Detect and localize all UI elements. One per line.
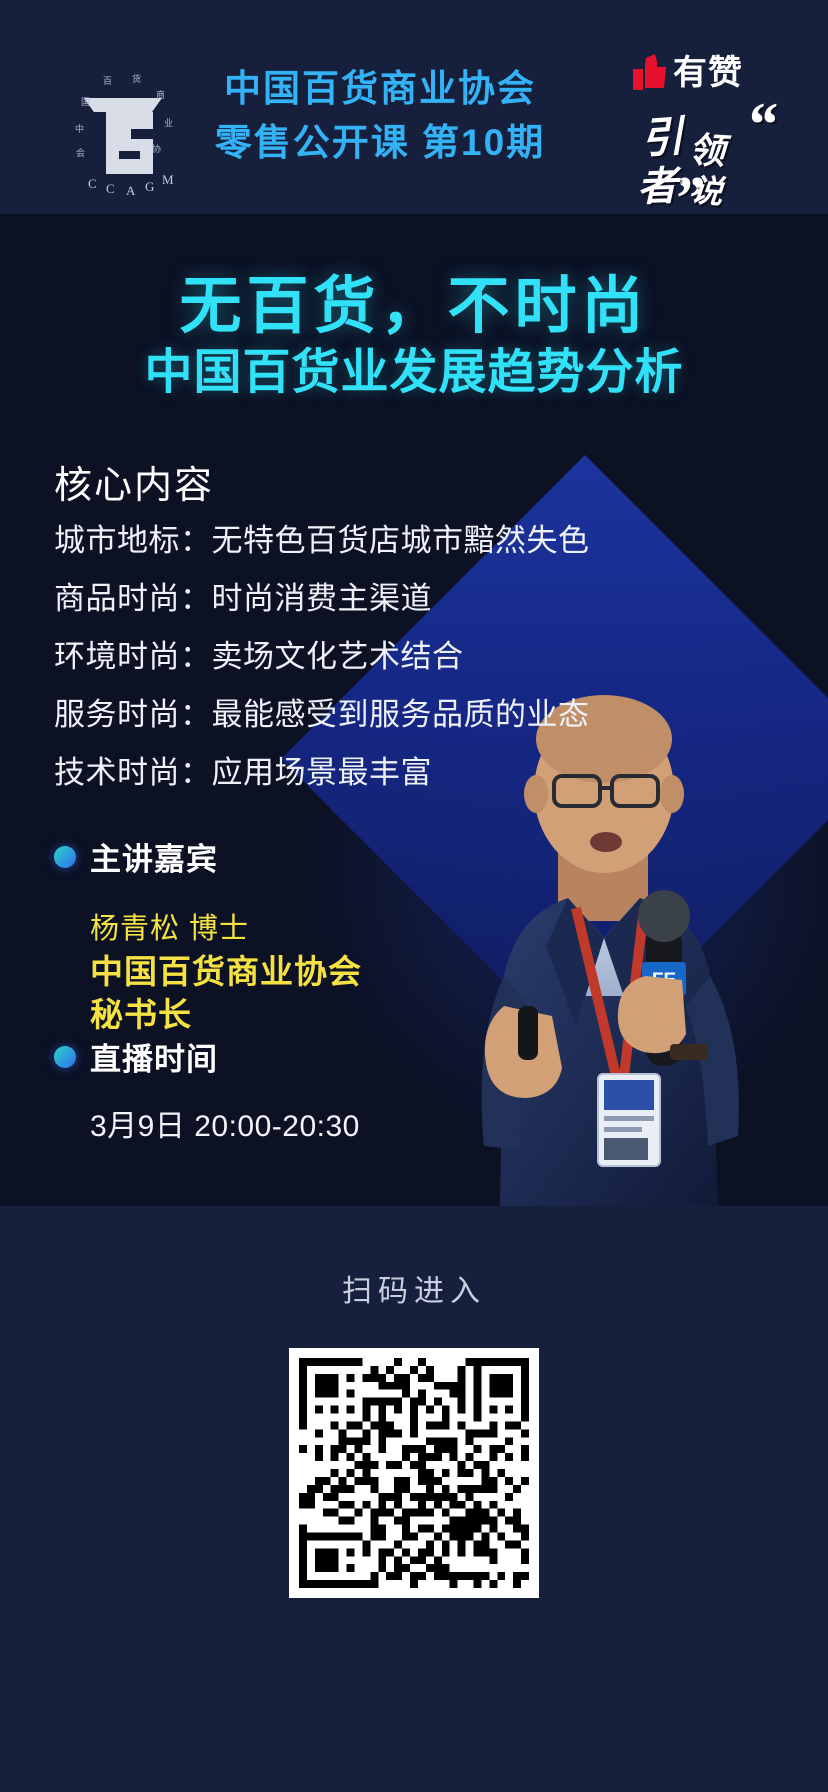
speaker-label-row: 主讲嘉宾: [54, 834, 362, 879]
speaker-role: 秘书长: [90, 994, 362, 1037]
header-title-line2: 零售公开课 第10期: [205, 116, 555, 170]
core-item-4: 服务时尚：最能感受到服务品质的业态: [54, 699, 590, 730]
svg-text:M: M: [162, 172, 175, 187]
live-time-value: 3月9日 20:00-20:30: [90, 1101, 360, 1145]
live-time-block: 直播时间 3月9日 20:00-20:30: [54, 1034, 360, 1145]
program-char-4: 说: [689, 165, 725, 214]
speaker-name: 杨青松 博士: [90, 905, 362, 947]
brand-name: 有赞: [673, 56, 743, 90]
quotation-mark-icon: “: [746, 94, 777, 156]
header-title: 中国百货商业协会 零售公开课 第10期: [205, 62, 555, 169]
speaker-block: 主讲嘉宾 杨青松 博士 中国百货商业协会 秘书长: [54, 834, 362, 1037]
main-subtitle: 中国百货业发展趋势分析: [0, 345, 828, 400]
poster-root: 中 国 百 货 商 业 协 会 C C A G M 中国百: [0, 0, 828, 1792]
header-title-line1: 中国百货商业协会: [205, 62, 555, 116]
speaker-organization: 中国百货商业协会: [90, 951, 362, 994]
core-content-block: 核心内容 城市地标：无特色百货店城市黯然失色 商品时尚：时尚消费主渠道 环境时尚…: [54, 454, 590, 815]
core-item-5: 技术时尚：应用场景最丰富: [54, 757, 590, 788]
svg-text:业: 业: [164, 118, 173, 128]
svg-text:协: 协: [152, 143, 161, 154]
ccagm-emblem-icon: 中 国 百 货 商 业 协 会 C C A G M: [48, 48, 198, 198]
svg-text:国: 国: [81, 97, 90, 107]
qr-code[interactable]: [289, 1348, 539, 1598]
live-time-label-row: 直播时间: [54, 1034, 360, 1079]
thumbs-up-icon: [633, 54, 667, 92]
svg-text:A: A: [126, 183, 136, 198]
core-content-heading: 核心内容: [54, 454, 590, 509]
svg-text:G: G: [145, 179, 155, 194]
svg-text:中: 中: [75, 123, 84, 134]
svg-text:货: 货: [132, 73, 141, 84]
svg-text:商: 商: [156, 89, 165, 100]
main-title: 无百货，不时尚: [0, 274, 828, 339]
svg-text:百: 百: [103, 76, 112, 86]
core-item-1: 城市地标：无特色百货店城市黯然失色: [54, 525, 590, 556]
main-title-block: 无百货，不时尚 中国百货业发展趋势分析: [0, 274, 828, 400]
scan-label: 扫码进入: [0, 1266, 828, 1310]
core-item-3: 环境时尚：卖场文化艺术结合: [54, 641, 590, 672]
program-char-3: 者: [636, 153, 678, 212]
svg-text:C: C: [106, 181, 116, 196]
speaker-label: 主讲嘉宾: [90, 834, 218, 879]
core-item-2: 商品时尚：时尚消费主渠道: [54, 583, 590, 614]
bullet-dot-icon-2: [54, 1046, 76, 1068]
youzan-brand-logo: 有赞 “ ” 引 领 者 说: [633, 50, 798, 210]
poster-body: FE 无百货，不时尚 中国百货业发展趋势分析 核心内容 城市地标：无特色百货店城: [0, 214, 828, 1206]
bullet-dot-icon: [54, 846, 76, 868]
program-name-block: “ ” 引 领 者 说: [633, 100, 783, 208]
svg-text:会: 会: [76, 147, 85, 158]
poster-header: 中 国 百 货 商 业 协 会 C C A G M 中国百: [0, 0, 828, 214]
brand-name-row: 有赞: [633, 50, 798, 96]
poster-footer: 扫码进入: [0, 1206, 828, 1792]
live-time-label: 直播时间: [90, 1034, 218, 1079]
svg-text:C: C: [88, 176, 98, 191]
